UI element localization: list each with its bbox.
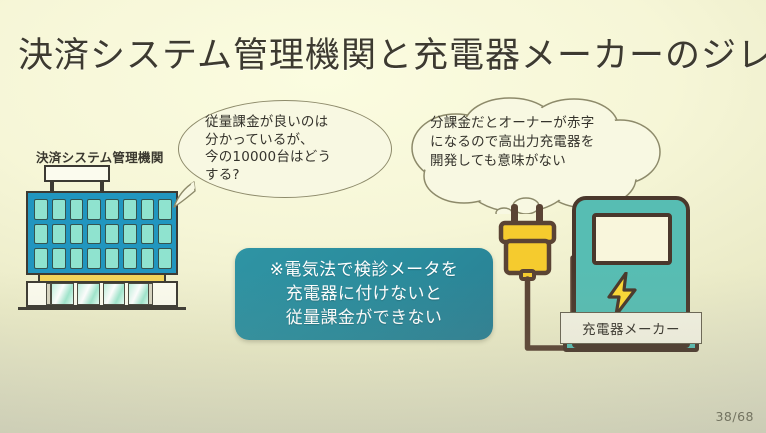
building-window — [123, 199, 137, 220]
entrance-glass-panel — [77, 283, 100, 305]
charger-screen — [592, 213, 672, 265]
thought-bubble-line: になるので高出力充電器を — [430, 133, 652, 152]
building-window-grid — [34, 199, 172, 269]
ground-line — [18, 307, 186, 310]
speech-bubble-text: 従量課金が良いのは 分かっているが、 今の10000台はどう する? — [205, 114, 375, 184]
building-window — [105, 224, 119, 245]
thought-bubble-line: 分課金だとオーナーが赤字 — [430, 114, 652, 133]
speech-bubble-line: 分かっているが、 — [205, 132, 375, 150]
building-window — [123, 224, 137, 245]
entrance-column-left — [46, 283, 51, 305]
building-window — [141, 199, 155, 220]
speech-bubble-tail-icon — [170, 180, 196, 208]
note-line: ※電気法で検診メータを — [235, 258, 493, 282]
building-window — [70, 199, 84, 220]
note-line: 従量課金ができない — [235, 306, 493, 330]
building-window — [87, 199, 101, 220]
building-window — [158, 224, 172, 245]
building-window — [141, 248, 155, 269]
page-indicator: 38/68 — [715, 409, 754, 424]
building-label: 決済システム管理機関 — [36, 147, 164, 166]
building-window — [34, 199, 48, 220]
building-window — [70, 248, 84, 269]
entrance-glass-panel — [51, 283, 74, 305]
building-body — [26, 191, 178, 275]
building-window — [141, 224, 155, 245]
building-window — [70, 224, 84, 245]
building-window — [52, 199, 66, 220]
building-window — [158, 248, 172, 269]
building-entrance-glass — [51, 283, 151, 305]
building-window — [105, 248, 119, 269]
building-window — [105, 199, 119, 220]
speech-bubble-line: 今の10000台はどう — [205, 149, 375, 167]
building-window — [34, 248, 48, 269]
charger-maker-label: 充電器メーカー — [560, 312, 702, 344]
note-callout-text: ※電気法で検診メータを 充電器に付けないと 従量課金ができない — [235, 258, 493, 330]
slide-canvas: 決済システム管理機関と充電器メーカーのジレンマ 決済システム管理機関 — [0, 0, 766, 433]
entrance-column-right — [148, 283, 153, 305]
lightning-bolt-icon — [605, 272, 639, 316]
speech-bubble-line: する? — [205, 167, 375, 185]
thought-bubble-line: 開発しても意味がない — [430, 152, 652, 171]
entrance-glass-panel — [103, 283, 126, 305]
thought-bubble-text: 分課金だとオーナーが赤字 になるので高出力充電器を 開発しても意味がない — [430, 114, 652, 171]
building-window — [34, 224, 48, 245]
building-window — [52, 224, 66, 245]
building-window — [87, 224, 101, 245]
building-window — [52, 248, 66, 269]
building-window — [87, 248, 101, 269]
note-line: 充電器に付けないと — [235, 282, 493, 306]
speech-bubble-line: 従量課金が良いのは — [205, 114, 375, 132]
rooftop-sign-icon — [44, 165, 110, 182]
payment-authority-building — [18, 165, 186, 310]
page-title: 決済システム管理機関と充電器メーカーのジレンマ — [18, 27, 758, 78]
building-window — [123, 248, 137, 269]
building-awning — [38, 273, 166, 283]
